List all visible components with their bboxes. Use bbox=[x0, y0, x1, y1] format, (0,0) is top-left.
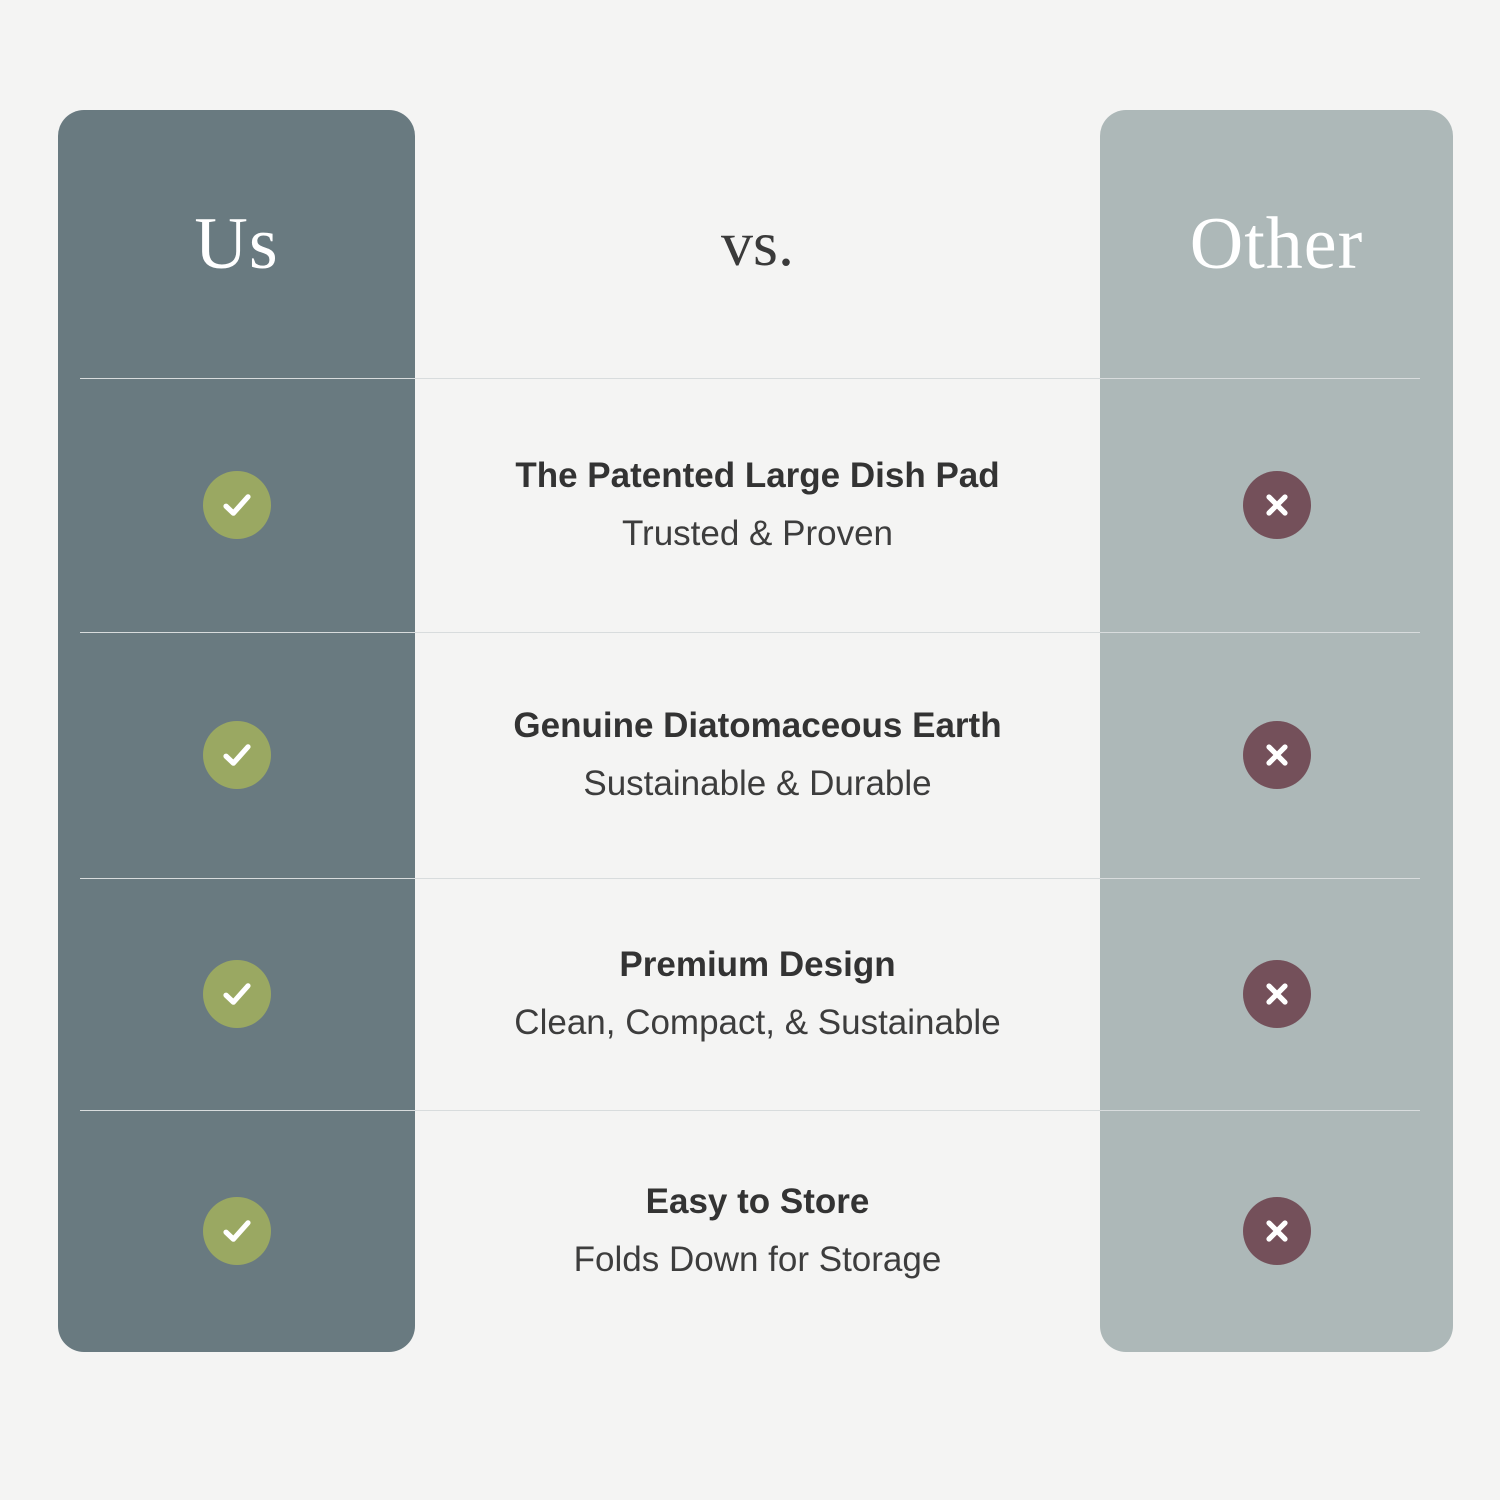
us-mark-cell bbox=[58, 1110, 415, 1352]
check-icon bbox=[203, 1197, 271, 1265]
cross-icon bbox=[1243, 471, 1311, 539]
header-label-other: Other bbox=[1190, 207, 1364, 281]
check-icon bbox=[203, 960, 271, 1028]
feature-subtitle: Sustainable & Durable bbox=[583, 762, 931, 806]
header-cell-us: Us bbox=[58, 110, 415, 378]
cross-icon bbox=[1243, 721, 1311, 789]
header-label-us: Us bbox=[194, 207, 278, 281]
check-icon bbox=[203, 721, 271, 789]
feature-title: The Patented Large Dish Pad bbox=[515, 454, 999, 498]
other-mark-cell bbox=[1100, 378, 1453, 632]
comparison-table: Us vs. Other The Patented Large Dish Pad… bbox=[0, 0, 1500, 1500]
feature-text-cell: Premium Design Clean, Compact, & Sustain… bbox=[415, 878, 1100, 1110]
feature-text-cell: Easy to Store Folds Down for Storage bbox=[415, 1110, 1100, 1352]
table-header: Us vs. Other bbox=[0, 110, 1500, 378]
feature-text-cell: The Patented Large Dish Pad Trusted & Pr… bbox=[415, 378, 1100, 632]
table-row: Genuine Diatomaceous Earth Sustainable &… bbox=[0, 632, 1500, 878]
feature-subtitle: Folds Down for Storage bbox=[574, 1238, 942, 1282]
cross-icon bbox=[1243, 960, 1311, 1028]
feature-title: Genuine Diatomaceous Earth bbox=[513, 704, 1001, 748]
other-mark-cell bbox=[1100, 1110, 1453, 1352]
check-icon bbox=[203, 471, 271, 539]
header-cell-other: Other bbox=[1100, 110, 1453, 378]
feature-text-cell: Genuine Diatomaceous Earth Sustainable &… bbox=[415, 632, 1100, 878]
other-mark-cell bbox=[1100, 632, 1453, 878]
table-row: Easy to Store Folds Down for Storage bbox=[0, 1110, 1500, 1352]
header-label-vs: vs. bbox=[721, 212, 794, 276]
cross-icon bbox=[1243, 1197, 1311, 1265]
table-row: The Patented Large Dish Pad Trusted & Pr… bbox=[0, 378, 1500, 632]
feature-title: Premium Design bbox=[619, 943, 895, 987]
us-mark-cell bbox=[58, 632, 415, 878]
header-cell-vs: vs. bbox=[415, 110, 1100, 378]
feature-subtitle: Trusted & Proven bbox=[622, 512, 893, 556]
feature-title: Easy to Store bbox=[646, 1180, 870, 1224]
feature-subtitle: Clean, Compact, & Sustainable bbox=[514, 1001, 1000, 1045]
us-mark-cell bbox=[58, 378, 415, 632]
us-mark-cell bbox=[58, 878, 415, 1110]
other-mark-cell bbox=[1100, 878, 1453, 1110]
table-row: Premium Design Clean, Compact, & Sustain… bbox=[0, 878, 1500, 1110]
